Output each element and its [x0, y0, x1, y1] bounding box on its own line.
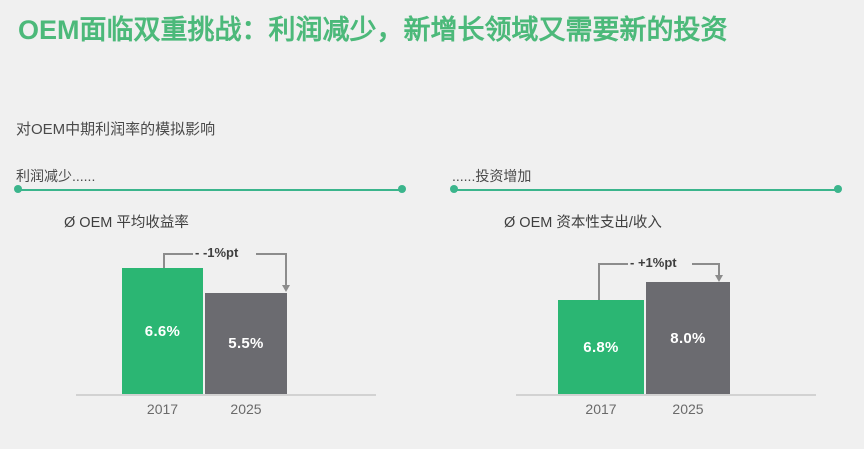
chart-axis-line: [76, 394, 376, 396]
delta-label: - -1%pt: [195, 245, 238, 260]
chart-panel-capex: Ø OEM 资本性支出/收入 - +1%pt 6.8% 8.0% 2017 20…: [480, 205, 860, 435]
divider-line: [18, 189, 402, 191]
section-divider-left: [14, 185, 406, 194]
delta-label: - +1%pt: [630, 255, 677, 270]
slide-canvas: OEM面临双重挑战：利润减少，新增长领域又需要新的投资 对OEM中期利润率的模拟…: [0, 0, 864, 449]
x-tick-2025: 2025: [646, 401, 730, 417]
section-label-left: 利润减少......: [16, 166, 95, 186]
x-tick-2017: 2017: [122, 401, 203, 417]
delta-leader-left: [598, 263, 600, 300]
bar-value-label: 5.5%: [228, 335, 263, 352]
divider-line: [454, 189, 838, 191]
section-label-right: ......投资增加: [452, 166, 531, 186]
chart-axis-line: [516, 394, 816, 396]
bar-value-label: 6.8%: [583, 339, 618, 356]
delta-arrow-icon: [715, 275, 723, 282]
section-divider-right: [450, 185, 842, 194]
bar-2025[interactable]: 5.5%: [205, 293, 287, 394]
divider-dot-end-icon: [834, 185, 842, 193]
x-tick-2025: 2025: [205, 401, 287, 417]
bar-value-label: 8.0%: [670, 330, 705, 347]
bar-value-label: 6.6%: [145, 323, 180, 340]
delta-leader-right: [285, 253, 287, 286]
x-tick-2017: 2017: [558, 401, 644, 417]
page-subtitle: 对OEM中期利润率的模拟影响: [16, 118, 215, 139]
bar-2017[interactable]: 6.6%: [122, 268, 203, 394]
divider-dot-end-icon: [398, 185, 406, 193]
delta-annotation: - -1%pt: [40, 205, 420, 305]
page-title: OEM面临双重挑战：利润减少，新增长领域又需要新的投资: [18, 12, 846, 48]
bar-2025[interactable]: 8.0%: [646, 282, 730, 394]
delta-line-right: [256, 253, 287, 255]
chart-panel-margin: Ø OEM 平均收益率 - -1%pt 6.6% 5.5% 2017 2025: [40, 205, 420, 435]
delta-line-left: [163, 253, 193, 255]
delta-line-right: [692, 263, 720, 265]
bar-2017[interactable]: 6.8%: [558, 300, 644, 394]
delta-arrow-icon: [282, 285, 290, 292]
delta-line-left: [598, 263, 628, 265]
